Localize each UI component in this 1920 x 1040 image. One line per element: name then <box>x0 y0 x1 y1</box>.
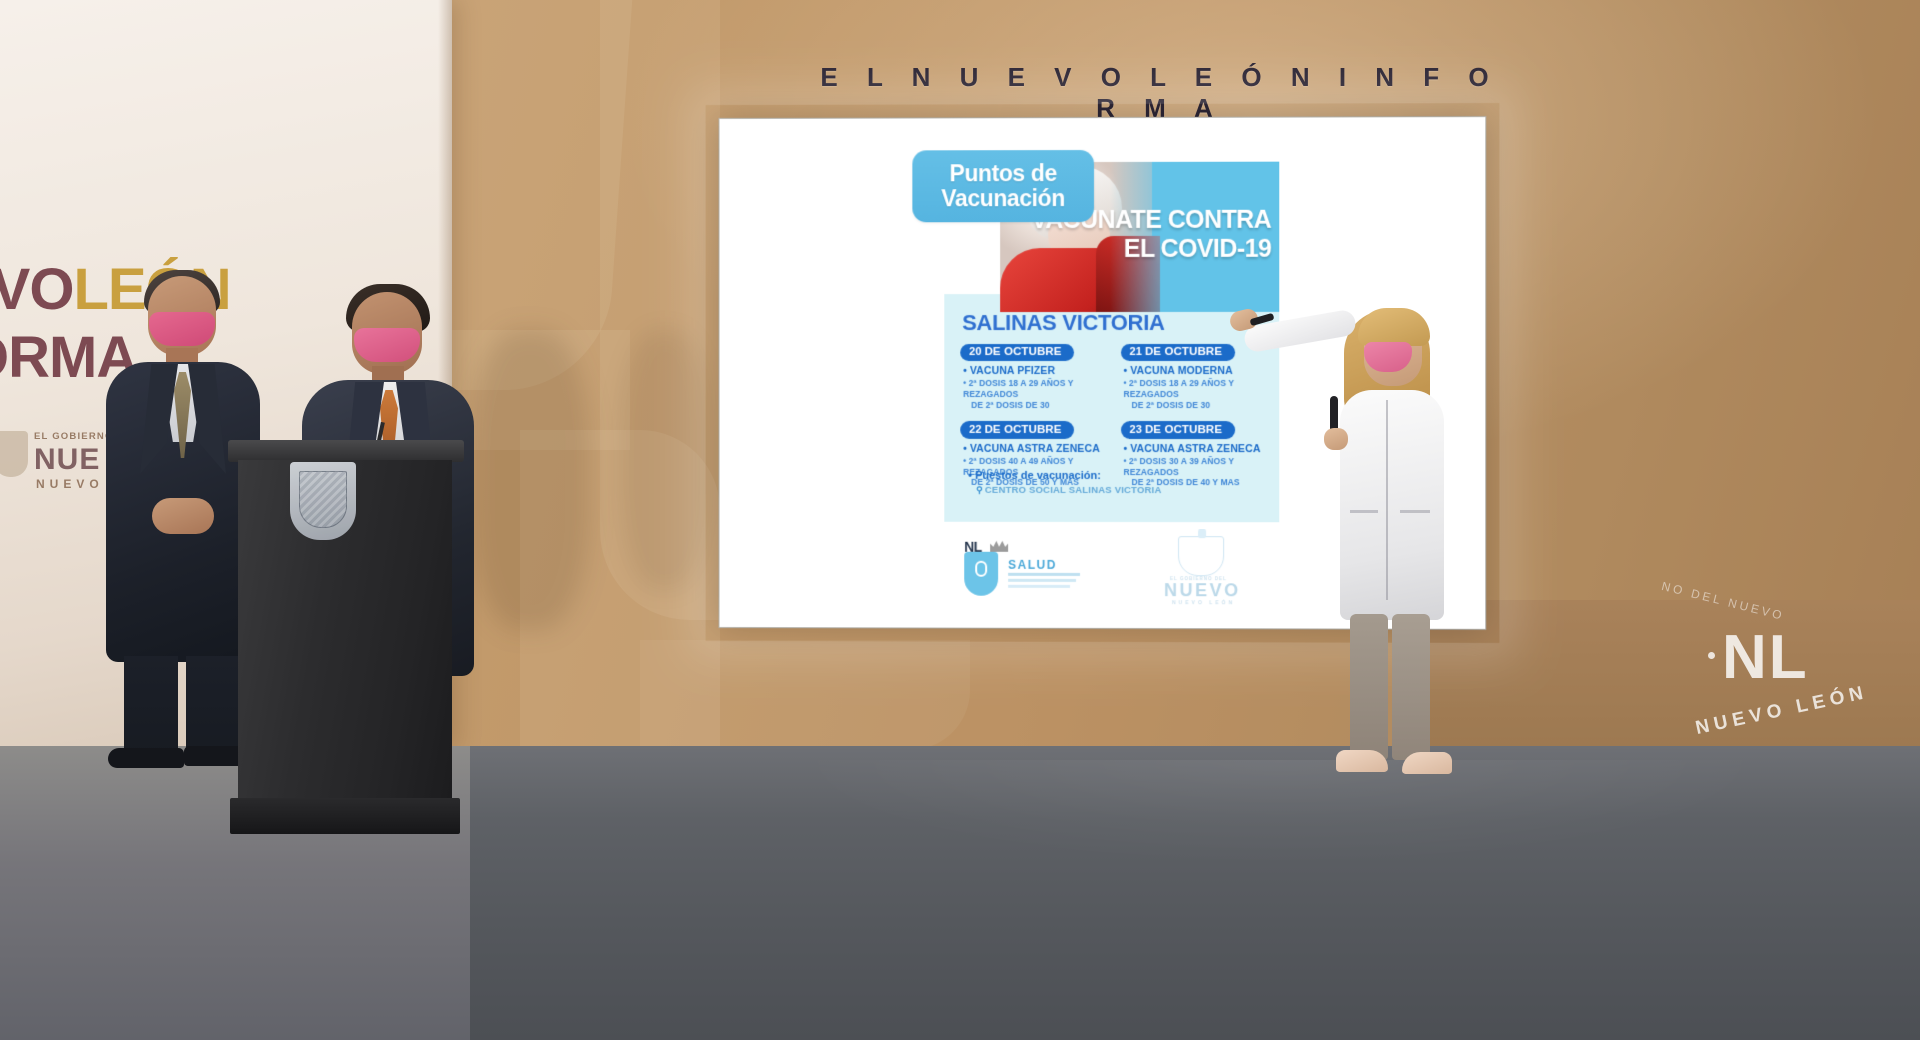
person-hair-front <box>1358 308 1430 346</box>
date-badge: 21DE OCTUBRE <box>1120 343 1235 361</box>
vaccine-detail: • 2ª DOSIS 18 A 29 AÑOS Y REZAGADOS DE 2… <box>963 378 1104 411</box>
puestos-item-name: CENTRO SOCIAL SALINAS VICTORIA <box>985 485 1162 496</box>
nl-logo-big-text: NUEVO <box>1164 580 1241 601</box>
vaccine-detail-line-1: • 2ª DOSIS 18 A 29 AÑOS Y REZAGADOS <box>1123 378 1233 399</box>
date-entries-row: 20DE OCTUBRE • VACUNA PFIZER • 2ª DOSIS … <box>960 342 1265 411</box>
vaccine-name: • VACUNA PFIZER <box>963 365 1104 377</box>
person-leg <box>1392 614 1430 760</box>
salud-logo-rule <box>1008 579 1076 582</box>
vaccine-detail-line-2: DE 2ª DOSIS DE 30 <box>971 400 1104 411</box>
stage-scene: EVOLEÓN ORMA EL GOBIERNO DEL NUE NUEVO L… <box>0 0 1920 1040</box>
person-shoe <box>108 748 184 768</box>
city-title: SALINAS VICTORIA <box>962 310 1164 336</box>
salud-logo-word: SALUD <box>1008 558 1057 572</box>
date-badge-day: 23 <box>1130 424 1142 436</box>
lab-coat-pocket <box>1350 510 1378 513</box>
puntos-de-vacunacion-tab: Puntos de Vacunación <box>912 150 1094 222</box>
podium <box>228 440 464 840</box>
salud-shield-icon <box>964 552 998 596</box>
vaccine-name: • VACUNA ASTRA ZENECA <box>1123 443 1265 455</box>
vaccine-name: • VACUNA MODERNA <box>1123 365 1265 377</box>
date-badge-month: DE OCTUBRE <box>985 424 1062 436</box>
podium-coat-of-arms-icon <box>290 462 356 540</box>
nuevo-leon-gov-logo: EL GOBIERNO DEL NUEVO NUEVO LEÓN <box>1156 536 1266 596</box>
nuevo-leon-watermark: NO DEL NUEVO NL NUEVO LEÓN <box>1700 600 1920 770</box>
wall-shadow <box>470 330 590 630</box>
slide-content-layer: SALINAS VICTORIA 20DE OCTUBRE • VACUNA P… <box>944 294 1279 522</box>
date-badge: 22DE OCTUBRE <box>960 421 1074 439</box>
person-hand <box>1324 428 1348 450</box>
date-badge-month: DE OCTUBRE <box>985 346 1062 358</box>
vaccine-name: • VACUNA ASTRA ZENECA <box>963 443 1104 455</box>
stage-floor-sheen <box>640 760 1920 1000</box>
nuevo-leon-crest-icon <box>1178 536 1224 576</box>
face-mask-icon <box>149 312 215 346</box>
puntos-tab-line-1: Puntos de <box>949 160 1056 186</box>
salud-logo-rule <box>1008 573 1080 576</box>
vaccine-detail: • 2ª DOSIS 18 A 29 AÑOS Y REZAGADOS DE 2… <box>1123 378 1265 411</box>
podium-base <box>230 798 460 834</box>
venue-header-title: E L N U E V O L E Ó N I N F O R M A <box>800 62 1520 124</box>
person-shoe <box>1402 752 1452 774</box>
lab-coat-seam <box>1386 400 1388 600</box>
slide-footer-logos: NL SALUD EL GOBIERNO DEL NUEVO NUEVO LEÓ… <box>944 538 1279 597</box>
date-badge: 23DE OCTUBRE <box>1120 421 1235 439</box>
puntos-tab-text: Puntos de Vacunación <box>941 161 1065 211</box>
date-badge-month: DE OCTUBRE <box>1145 346 1222 358</box>
date-badge-day: 22 <box>969 424 981 436</box>
wall-shadow <box>620 330 710 590</box>
location-pin-icon: ⚲ <box>976 485 983 495</box>
hero-headline-line-2: EL COVID-19 <box>1019 237 1271 262</box>
person-hands <box>152 498 214 534</box>
date-badge-day: 21 <box>1130 346 1142 358</box>
date-badge-month: DE OCTUBRE <box>1145 424 1222 436</box>
watermark-nl-text: NL <box>1722 622 1809 693</box>
lab-coat-pocket <box>1400 510 1430 513</box>
date-badge: 20DE OCTUBRE <box>960 344 1074 362</box>
nl-logo-sub-text: NUEVO LEÓN <box>1172 600 1235 606</box>
salud-logo-rule <box>1008 585 1070 588</box>
puestos-title: • Puestos de vacunación: <box>968 470 1161 482</box>
podium-top <box>228 440 464 462</box>
face-mask-icon <box>354 328 420 362</box>
government-shield-icon <box>0 431 28 477</box>
slide-artboard: VACÚNATE CONTRA EL COVID-19 Puntos de Va… <box>914 146 1279 597</box>
vaccine-detail-line-1: • 2ª DOSIS 18 A 29 AÑOS Y REZAGADOS <box>963 378 1073 399</box>
puntos-tab-line-2: Vacunación <box>941 185 1065 211</box>
wall-logo-seg-evo: EVO <box>0 257 74 322</box>
person-lab-coat <box>1340 390 1444 620</box>
vaccine-detail-line-2: DE 2ª DOSIS DE 30 <box>1132 400 1266 411</box>
wall-decor-shape <box>640 640 970 750</box>
watermark-dot-icon <box>1708 652 1715 659</box>
person-presenter-right <box>1316 300 1466 800</box>
date-badge-day: 20 <box>969 346 981 358</box>
person-shoe <box>1336 750 1388 772</box>
crown-icon <box>990 541 1008 552</box>
salud-nl-logo: NL SALUD <box>952 540 1082 594</box>
date-entry-card: 20DE OCTUBRE • VACUNA PFIZER • 2ª DOSIS … <box>960 342 1104 411</box>
puestos-section: • Puestos de vacunación: ⚲CENTRO SOCIAL … <box>968 470 1161 496</box>
date-entry-card: 21DE OCTUBRE • VACUNA MODERNA • 2ª DOSIS… <box>1120 342 1265 411</box>
government-badge-big: NUE <box>34 443 100 477</box>
person-leg <box>1350 614 1388 760</box>
person-leg <box>124 656 178 756</box>
puestos-list-item: ⚲CENTRO SOCIAL SALINAS VICTORIA <box>976 485 1161 496</box>
